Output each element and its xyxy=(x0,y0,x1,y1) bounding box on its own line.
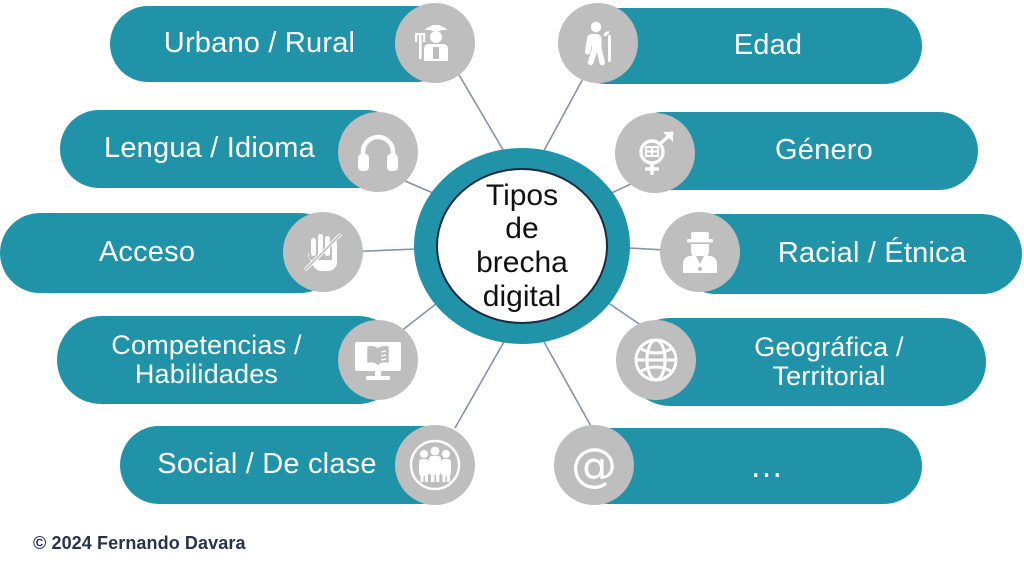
elderly-cane-icon xyxy=(558,3,638,83)
center-node: Tipos de brecha digital xyxy=(414,148,630,344)
center-title: Tipos de brecha digital xyxy=(476,179,568,313)
farmer-icon xyxy=(395,3,475,83)
node-label-geografica: Geográfica / Territorial xyxy=(708,333,903,391)
node-label-social-clase: Social / De clase xyxy=(157,449,422,480)
at-sign-icon: @ xyxy=(554,425,634,505)
headphones-icon xyxy=(338,112,418,192)
person-hat-icon xyxy=(660,212,740,292)
node-label-racial-etnica: Racial / Étnica xyxy=(732,238,966,269)
connector-otros xyxy=(543,340,592,428)
node-label-competencias: Competencias / Habilidades xyxy=(111,331,347,389)
hand-blocked-icon xyxy=(283,212,363,292)
node-label-urbano-rural: Urbano / Rural xyxy=(164,28,401,59)
infographic-canvas: Urbano / Rural Lengua / Idioma Acceso Co… xyxy=(0,0,1024,571)
connector-urbano-rural xyxy=(455,68,509,160)
node-label-otros: … xyxy=(704,448,789,485)
group-people-icon xyxy=(395,425,475,505)
at-sign-glyph: @ xyxy=(571,442,617,488)
connector-social xyxy=(455,340,505,428)
node-label-lengua-idioma: Lengua / Idioma xyxy=(104,133,361,164)
node-label-edad: Edad xyxy=(688,30,803,61)
node-label-acceso: Acceso xyxy=(99,237,241,268)
monitor-book-icon xyxy=(338,320,418,400)
copyright-notice: © 2024 Fernando Davara xyxy=(33,533,246,554)
node-label-genero: Género xyxy=(729,135,873,166)
center-inner-circle: Tipos de brecha digital xyxy=(436,168,608,324)
